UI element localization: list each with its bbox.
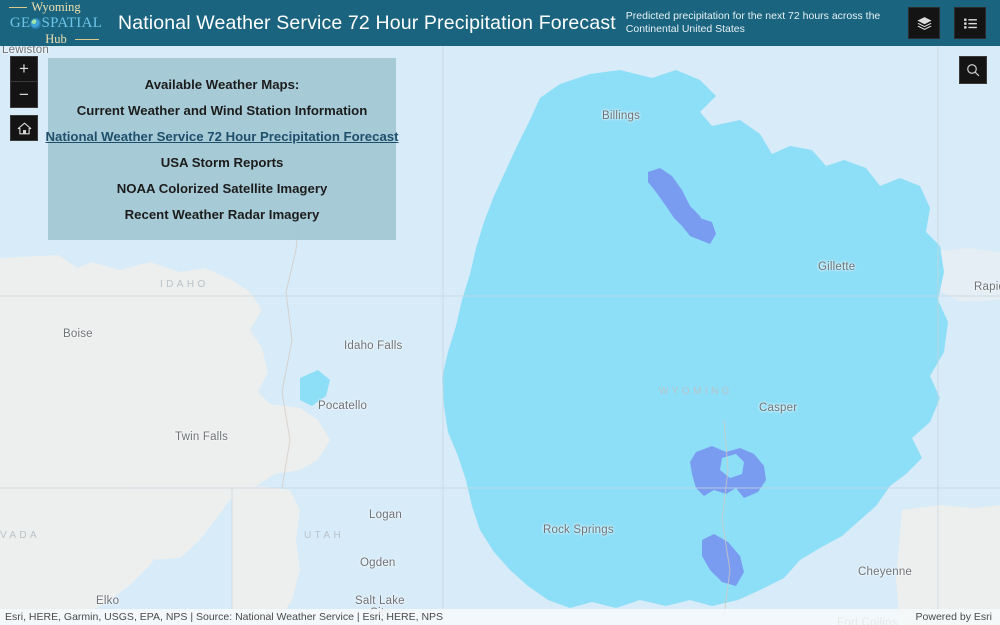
home-button[interactable]: [10, 115, 38, 141]
powered-by-esri: Powered by Esri: [916, 611, 992, 623]
zoom-in-button[interactable]: +: [11, 57, 37, 82]
attribution-text: Esri, HERE, Garmin, USGS, EPA, NPS | Sou…: [5, 611, 443, 623]
home-icon: [17, 121, 32, 136]
map-application: Lewiston Billings Gillette Rapid Boise I…: [0, 0, 1000, 625]
wyoming-geospatial-hub-logo[interactable]: Wyoming GE SPATIAL Hub: [0, 0, 112, 46]
zoom-out-button[interactable]: −: [11, 82, 37, 107]
search-button[interactable]: [959, 56, 987, 84]
weather-map-link-current-weather[interactable]: Current Weather and Wind Station Informa…: [77, 103, 368, 118]
weather-map-link-nws-precip[interactable]: National Weather Service 72 Hour Precipi…: [46, 129, 399, 144]
map-footer: Esri, HERE, Garmin, USGS, EPA, NPS | Sou…: [0, 609, 1000, 625]
legend-list-icon: [962, 15, 979, 32]
legend-button[interactable]: [954, 7, 986, 39]
app-header: Wyoming GE SPATIAL Hub National Weather …: [0, 0, 1000, 46]
weather-map-link-storm-reports[interactable]: USA Storm Reports: [161, 155, 284, 170]
logo-line-geospatial: GE SPATIAL: [10, 16, 102, 31]
logo-line-hub: Hub: [45, 32, 67, 47]
layers-icon: [916, 15, 933, 32]
panel-heading: Available Weather Maps:: [145, 77, 300, 92]
search-icon: [965, 62, 981, 78]
logo-spatial-text: SPATIAL: [41, 16, 102, 31]
globe-icon: [30, 18, 41, 29]
logo-geo-text: GE: [10, 16, 31, 31]
weather-map-link-noaa-satellite[interactable]: NOAA Colorized Satellite Imagery: [117, 181, 328, 196]
page-title: National Weather Service 72 Hour Precipi…: [118, 12, 616, 35]
page-subtitle: Predicted precipitation for the next 72 …: [626, 10, 908, 36]
layers-button[interactable]: [908, 7, 940, 39]
weather-map-link-radar-imagery[interactable]: Recent Weather Radar Imagery: [125, 207, 320, 222]
logo-line-wyoming: Wyoming: [31, 0, 80, 15]
zoom-control-group[interactable]: + −: [10, 56, 38, 108]
available-weather-maps-panel: Available Weather Maps: Current Weather …: [48, 58, 396, 240]
